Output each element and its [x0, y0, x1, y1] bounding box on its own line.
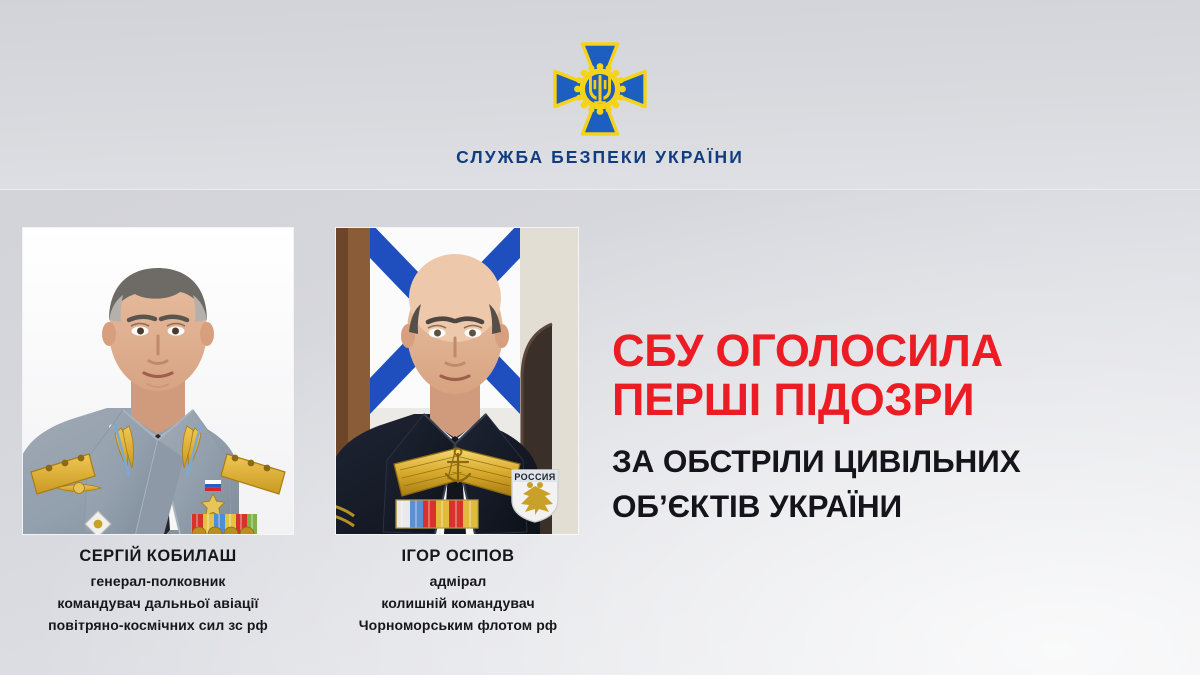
poster-canvas: СЛУЖБА БЕЗПЕКИ УКРАЇНИ [0, 0, 1200, 675]
headline-secondary: ЗА ОБСТРІЛИ ЦИВІЛЬНИХ ОБ’ЄКТІВ УКРАЇНИ [612, 439, 1172, 529]
person-title-line: адмірал [330, 570, 586, 592]
person-title-line: командувач дальньої авіації [0, 592, 316, 614]
headline-primary: СБУ ОГОЛОСИЛА ПЕРШІ ПІДОЗРИ [612, 326, 1172, 424]
person-name: СЕРГІЙ КОБИЛАШ [0, 546, 316, 566]
person-titles: генерал-полковник командувач дальньої ав… [0, 570, 316, 636]
person-title-line: генерал-полковник [0, 570, 316, 592]
portrait-photo-naval-admiral: РОССИЯ [336, 228, 578, 534]
person-title-line: Чорноморським флотом рф [330, 614, 586, 636]
person-caption-osipov: ІГОР ОСІПОВ адмірал колишній командувач … [330, 546, 586, 636]
headline-red-line: СБУ ОГОЛОСИЛА [612, 326, 1172, 375]
brand-lockup: СЛУЖБА БЕЗПЕКИ УКРАЇНИ [0, 40, 1200, 168]
headline-dark-line: ЗА ОБСТРІЛИ ЦИВІЛЬНИХ [612, 439, 1172, 484]
portrait-photo-military-officer [23, 228, 293, 534]
person-titles: адмірал колишній командувач Чорноморськи… [330, 570, 586, 636]
svg-text:РОССИЯ: РОССИЯ [514, 472, 555, 482]
person-caption-kobylash: СЕРГІЙ КОБИЛАШ генерал-полковник команду… [0, 546, 316, 636]
headline-block: СБУ ОГОЛОСИЛА ПЕРШІ ПІДОЗРИ ЗА ОБСТРІЛИ … [612, 326, 1172, 529]
headline-dark-line: ОБ’ЄКТІВ УКРАЇНИ [612, 484, 1172, 529]
person-name: ІГОР ОСІПОВ [330, 546, 586, 566]
person-title-line: повітряно-космічних сил зс рф [0, 614, 316, 636]
person-title-line: колишній командувач [330, 592, 586, 614]
organization-name: СЛУЖБА БЕЗПЕКИ УКРАЇНИ [456, 147, 744, 168]
sbu-cross-trident-emblem-icon [552, 40, 648, 138]
headline-red-line: ПЕРШІ ПІДОЗРИ [612, 375, 1172, 424]
